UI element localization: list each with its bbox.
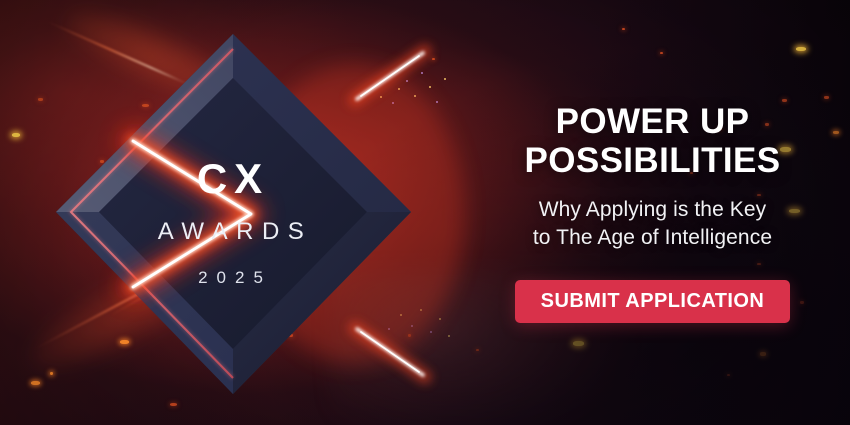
headline-line-1: POWER UP [556,102,750,141]
subtitle-line-1: Why Applying is the Key [539,198,767,221]
banner-content: POWER UP POSSIBILITIES Why Applying is t… [455,0,850,425]
logo-title: CX [197,155,269,202]
submit-application-button[interactable]: SUBMIT APPLICATION [515,280,791,323]
cx-awards-banner: CX AWARDS 2025 POWER UP POSSIBILITIES Wh… [0,0,850,425]
logo-year: 2025 [198,268,272,287]
cx-awards-logo: CX AWARDS 2025 [55,33,412,395]
subtitle: Why Applying is the Key to The Age of In… [533,196,772,252]
headline-line-2: POSSIBILITIES [524,141,780,180]
subtitle-line-2: to The Age of Intelligence [533,224,772,252]
headline: POWER UP POSSIBILITIES [524,102,780,180]
logo-subtitle: AWARDS [158,218,313,245]
